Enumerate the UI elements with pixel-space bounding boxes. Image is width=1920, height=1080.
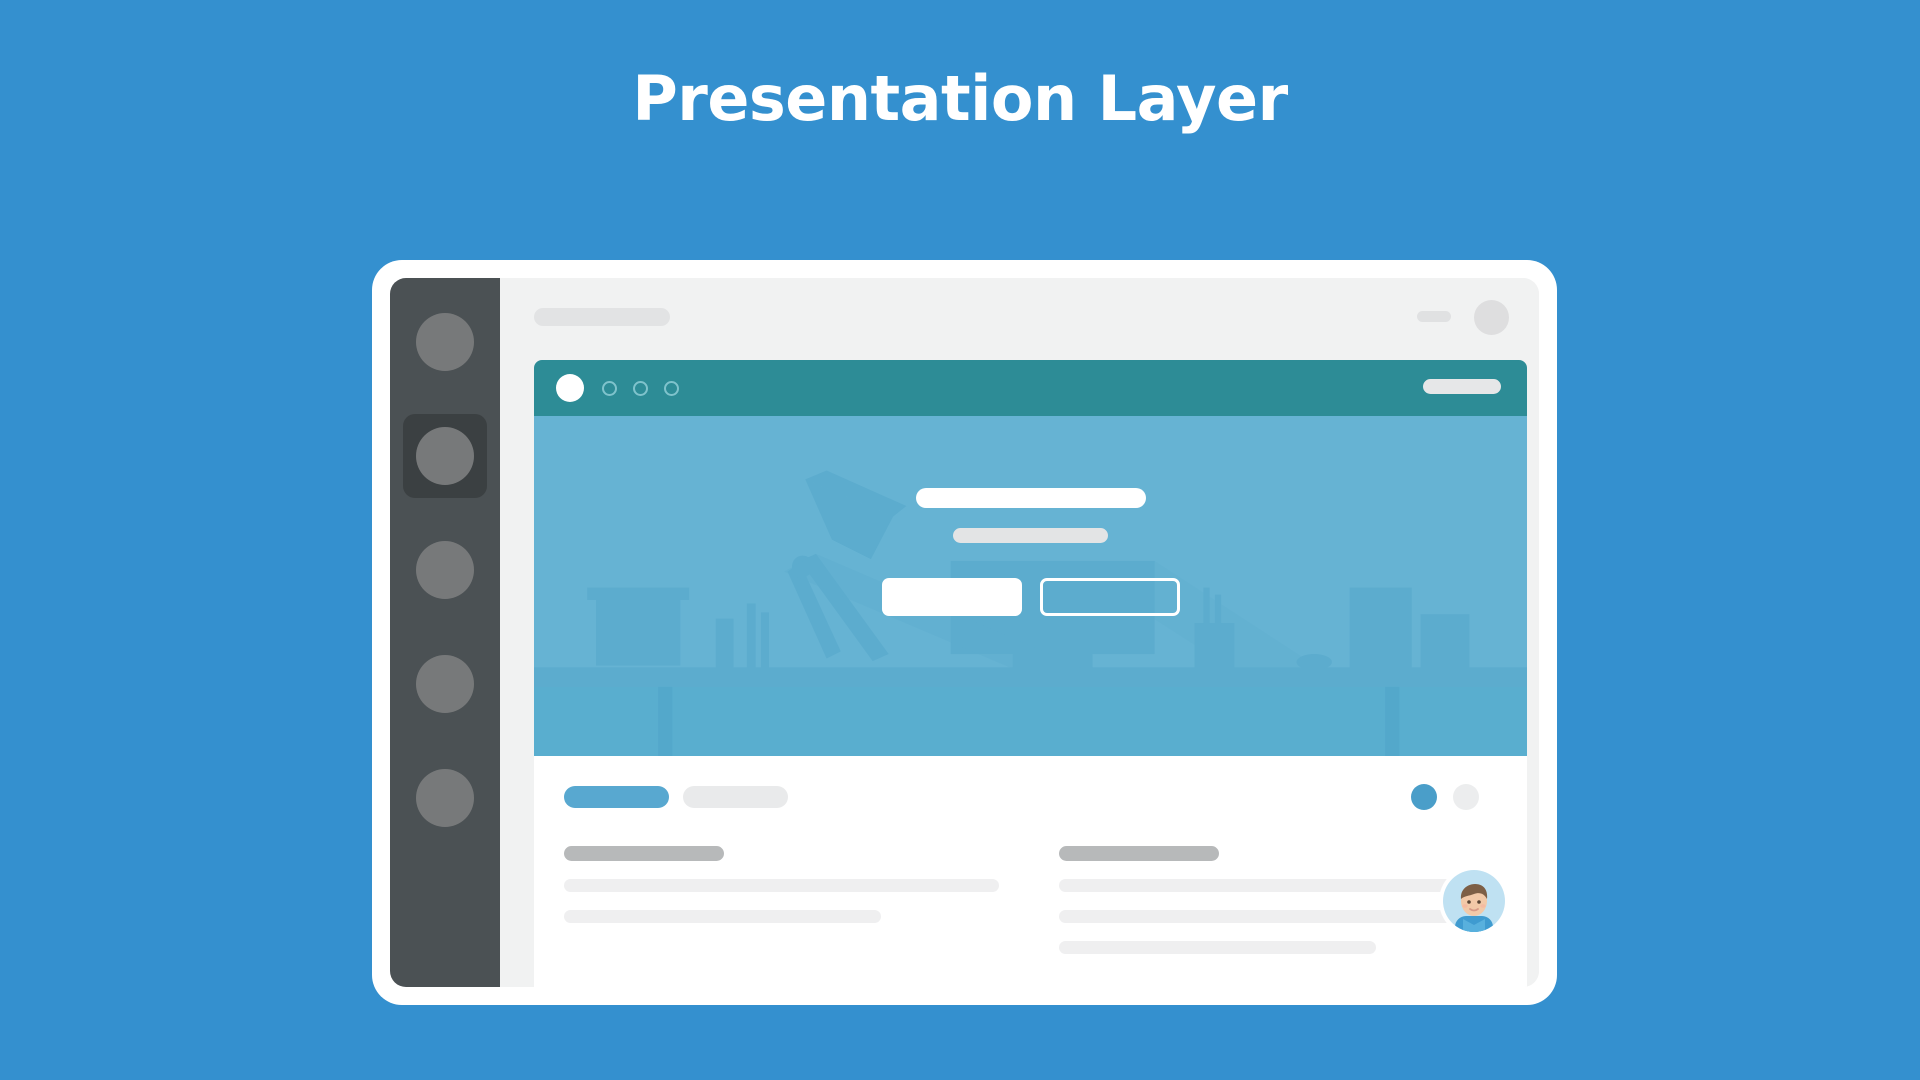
- sidebar-icon-4-icon: [416, 655, 474, 713]
- app-main: [500, 278, 1539, 987]
- sidebar-item-2[interactable]: [403, 414, 487, 498]
- sidebar-item-5[interactable]: [403, 756, 487, 840]
- secondary-cta-button[interactable]: [1040, 578, 1180, 616]
- browser-dot-active-icon[interactable]: [556, 374, 584, 402]
- column-text-line: [1059, 879, 1494, 892]
- app-sidebar: [390, 278, 500, 987]
- column-text-line: [564, 910, 881, 923]
- app-header: [500, 278, 1539, 360]
- pagination-dots: [1411, 784, 1479, 810]
- browser-dot-3-icon[interactable]: [664, 381, 679, 396]
- user-avatar[interactable]: [1439, 866, 1509, 936]
- pagination-dot-1[interactable]: [1411, 784, 1437, 810]
- tab-2[interactable]: [683, 786, 788, 808]
- browser-dot-2-icon[interactable]: [633, 381, 648, 396]
- sidebar-icon-1-icon: [416, 313, 474, 371]
- avatar[interactable]: [1474, 300, 1509, 335]
- hero-button-group: [882, 578, 1180, 616]
- page-title: Presentation Layer: [0, 62, 1920, 135]
- sidebar-item-1[interactable]: [403, 300, 487, 384]
- content-column-left: [564, 846, 999, 954]
- content-section: [534, 756, 1527, 987]
- column-text-line: [1059, 910, 1494, 923]
- column-heading: [564, 846, 724, 861]
- search-input[interactable]: [534, 308, 670, 326]
- sidebar-icon-3-icon: [416, 541, 474, 599]
- sidebar-icon-2-icon: [416, 427, 474, 485]
- content-column-right: [1059, 846, 1494, 954]
- minimize-button[interactable]: [1417, 311, 1451, 322]
- browser-window: [534, 360, 1527, 987]
- hero-content: [534, 416, 1527, 756]
- tab-1[interactable]: [564, 786, 669, 808]
- column-text-line: [564, 879, 999, 892]
- browser-toolbar: [534, 360, 1527, 416]
- pagination-dot-2[interactable]: [1453, 784, 1479, 810]
- hero-section: [534, 416, 1527, 756]
- content-columns: [564, 846, 1493, 954]
- hero-headline: [916, 488, 1146, 508]
- address-bar[interactable]: [1423, 379, 1501, 394]
- sidebar-item-3[interactable]: [403, 528, 487, 612]
- hero-subheadline: [953, 528, 1108, 543]
- tab-bar: [564, 786, 1493, 808]
- column-text-line: [1059, 941, 1376, 954]
- tablet-screen: [390, 278, 1539, 987]
- primary-cta-button[interactable]: [882, 578, 1022, 616]
- tablet-device: [372, 260, 1557, 1005]
- browser-dot-1-icon[interactable]: [602, 381, 617, 396]
- sidebar-icon-5-icon: [416, 769, 474, 827]
- user-avatar-icon: [1443, 870, 1505, 932]
- column-heading: [1059, 846, 1219, 861]
- sidebar-item-4[interactable]: [403, 642, 487, 726]
